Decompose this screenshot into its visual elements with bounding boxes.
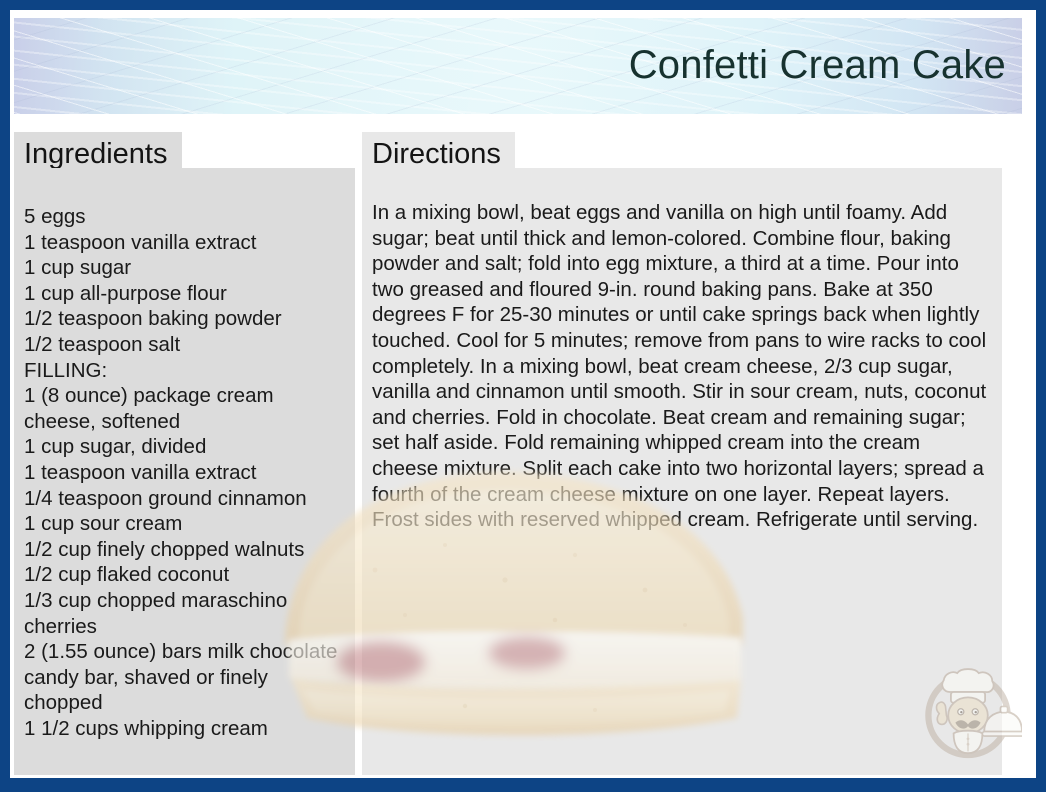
list-item: 1 cup sugar, divided xyxy=(24,434,349,460)
list-item: 5 eggs xyxy=(24,204,349,230)
list-item: 1/3 cup chopped maraschino cherries xyxy=(24,588,349,639)
directions-panel: In a mixing bowl, beat eggs and vanilla … xyxy=(362,168,1002,775)
list-item: 1 (8 ounce) package cream cheese, soften… xyxy=(24,383,349,434)
list-item: 1/2 cup flaked coconut xyxy=(24,562,349,588)
page-title: Confetti Cream Cake xyxy=(629,45,1006,85)
list-item: 1/4 teaspoon ground cinnamon xyxy=(24,486,349,512)
ingredients-panel: 5 eggs 1 teaspoon vanilla extract 1 cup … xyxy=(14,168,355,775)
recipe-page: Confetti Cream Cake Ingredients 5 eggs 1… xyxy=(10,10,1036,778)
list-item: 1/2 teaspoon salt xyxy=(24,332,349,358)
directions-text: In a mixing bowl, beat eggs and vanilla … xyxy=(362,168,1002,533)
list-item: 1/2 teaspoon baking powder xyxy=(24,306,349,332)
list-item: 2 (1.55 ounce) bars milk chocolate candy… xyxy=(24,639,349,716)
list-item: 1 cup sugar xyxy=(24,255,349,281)
list-item: 1 cup all-purpose flour xyxy=(24,281,349,307)
list-item: 1 teaspoon vanilla extract xyxy=(24,230,349,256)
ingredients-list: 5 eggs 1 teaspoon vanilla extract 1 cup … xyxy=(14,168,355,741)
list-item: FILLING: xyxy=(24,358,349,384)
header-banner: Confetti Cream Cake xyxy=(14,18,1022,114)
list-item: 1 1/2 cups whipping cream xyxy=(24,716,349,742)
recipe-card: Confetti Cream Cake Ingredients 5 eggs 1… xyxy=(0,0,1046,792)
list-item: 1/2 cup finely chopped walnuts xyxy=(24,537,349,563)
list-item: 1 cup sour cream xyxy=(24,511,349,537)
list-item: 1 teaspoon vanilla extract xyxy=(24,460,349,486)
